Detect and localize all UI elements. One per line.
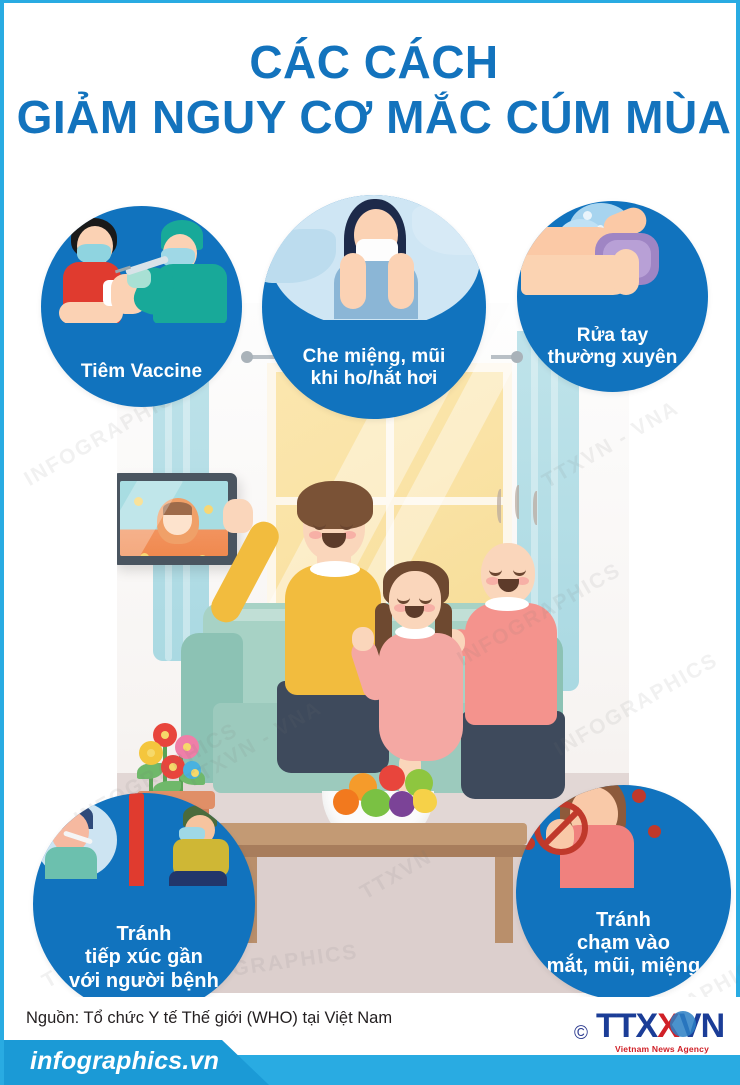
badge-vaccine[interactable]: Tiêm Vaccine (41, 206, 242, 407)
badge-wash-hands[interactable]: Rửa tay thường xuyên (517, 201, 708, 392)
wall-tv-icon (117, 473, 237, 565)
badge-connector-dot (241, 351, 253, 363)
badge-avoid-contact[interactable]: Tránh tiếp xúc gần với người bệnh (33, 793, 255, 1015)
ttxvn-tagline: Vietnam News Agency (596, 1044, 728, 1054)
handwashing-icon (517, 201, 708, 306)
vaccination-icon (41, 206, 242, 323)
source-text: Nguồn: Tổ chức Y tế Thế giới (WHO) tại V… (26, 1009, 392, 1028)
footer: Nguồn: Tổ chức Y tế Thế giới (WHO) tại V… (4, 997, 740, 1085)
copyright-icon: © (574, 1023, 588, 1045)
infographic-poster: CÁC CÁCH GIẢM NGUY CƠ MẮC CÚM MÙA (0, 0, 740, 1085)
title-line-1: CÁC CÁCH (4, 39, 740, 85)
avoid-sick-person-icon (33, 793, 255, 886)
badge-avoid-contact-label: Tránh tiếp xúc gần với người bệnh (33, 923, 255, 993)
ttxvn-wordmark: TTXXVN (596, 1009, 728, 1043)
badge-wash-hands-label: Rửa tay thường xuyên (517, 325, 708, 369)
tv-screen (120, 481, 228, 556)
badge-avoid-touch-face[interactable]: Tránh chạm vào mắt, mũi, miệng (516, 785, 731, 1000)
badge-avoid-touch-face-label: Tránh chạm vào mắt, mũi, miệng (516, 909, 731, 979)
infographics-site-label: infographics.vn (30, 1047, 219, 1076)
page-title: CÁC CÁCH GIẢM NGUY CƠ MẮC CÚM MÙA (4, 39, 740, 144)
sneeze-cover-icon (262, 195, 486, 320)
no-touch-face-icon (516, 785, 731, 888)
badge-cover-cough[interactable]: Che miệng, mũi khi ho/hắt hơi (262, 195, 486, 419)
badge-vaccine-label: Tiêm Vaccine (41, 361, 242, 383)
title-line-2: GIẢM NGUY CƠ MẮC CÚM MÙA (4, 91, 740, 144)
ttxvn-logo: TTXXVN Vietnam News Agency (596, 1009, 728, 1059)
badge-cover-cough-label: Che miệng, mũi khi ho/hắt hơi (262, 346, 486, 390)
globe-icon (670, 1011, 696, 1037)
